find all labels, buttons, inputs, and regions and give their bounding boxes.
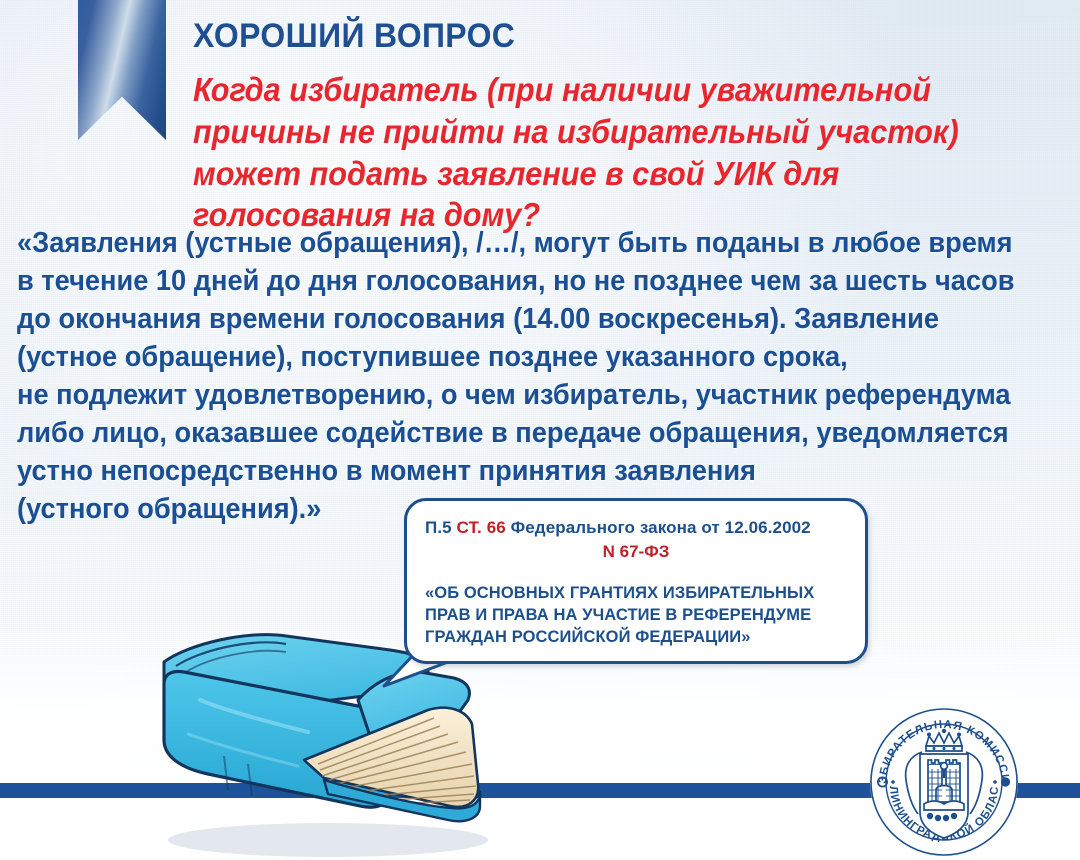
- citation-law-number: N 67-ФЗ: [425, 541, 847, 563]
- citation-bubble: П.5 СТ. 66 Федерального закона от 12.06.…: [404, 498, 868, 664]
- citation-suffix: Федерального закона от 12.06.2002: [506, 518, 811, 537]
- question-line: причины не прийти на избирательный участ…: [193, 113, 959, 150]
- law-title-line: «ОБ ОСНОВНЫХ ГРАНТИЯХ ИЗБИРАТЕЛЬНЫХ: [425, 582, 847, 604]
- citation-reference-line: П.5 СТ. 66 Федерального закона от 12.06.…: [425, 517, 847, 539]
- quote-line: до окончания времени голосования (14.00 …: [17, 300, 1025, 338]
- bookmark-ribbon-icon: [78, 0, 166, 140]
- question-text: Когда избиратель (при наличии уважительн…: [193, 69, 993, 237]
- question-line: Когда избиратель (при наличии уважительн…: [193, 71, 931, 108]
- header-block: ХОРОШИЙ ВОПРОС Когда избиратель (при нал…: [193, 18, 1053, 236]
- question-line: может подать заявление в свой УИК для: [193, 155, 839, 192]
- law-title-line: ГРАЖДАН РОССИЙСКОЙ ФЕДЕРАЦИИ»: [425, 626, 847, 648]
- quote-line: устно непосредственно в момент принятия …: [17, 452, 1025, 490]
- quote-line: не подлежит удовлетворению, о чем избира…: [17, 376, 1025, 414]
- citation-prefix: П.5: [425, 518, 457, 537]
- citation-bubble-content: П.5 СТ. 66 Федерального закона от 12.06.…: [407, 501, 865, 649]
- quote-line: либо лицо, оказавшее содействие в переда…: [17, 414, 1025, 452]
- quotation-text: «Заявления (устные обращения), /…/, могу…: [17, 224, 1025, 528]
- page-title: ХОРОШИЙ ВОПРОС: [193, 18, 1001, 55]
- citation-law-title: «ОБ ОСНОВНЫХ ГРАНТИЯХ ИЗБИРАТЕЛЬНЫХ ПРАВ…: [425, 582, 847, 648]
- election-commission-emblem: ИЗБИРАТЕЛЬНАЯ КОМИССИЯ КАЛИНИНГРАДСКОЙ О…: [868, 706, 1020, 858]
- citation-article: СТ. 66: [457, 518, 506, 537]
- poster-canvas: ХОРОШИЙ ВОПРОС Когда избиратель (при нал…: [0, 0, 1080, 860]
- quote-line: «Заявления (устные обращения), /…/, могу…: [17, 224, 1025, 262]
- law-title-line: ПРАВ И ПРАВА НА УЧАСТИЕ В РЕФЕРЕНДУМЕ: [425, 604, 847, 626]
- quote-line: в течение 10 дней до дня голосования, но…: [17, 262, 1025, 300]
- quote-line: (устное обращение), поступившее позднее …: [17, 338, 1025, 376]
